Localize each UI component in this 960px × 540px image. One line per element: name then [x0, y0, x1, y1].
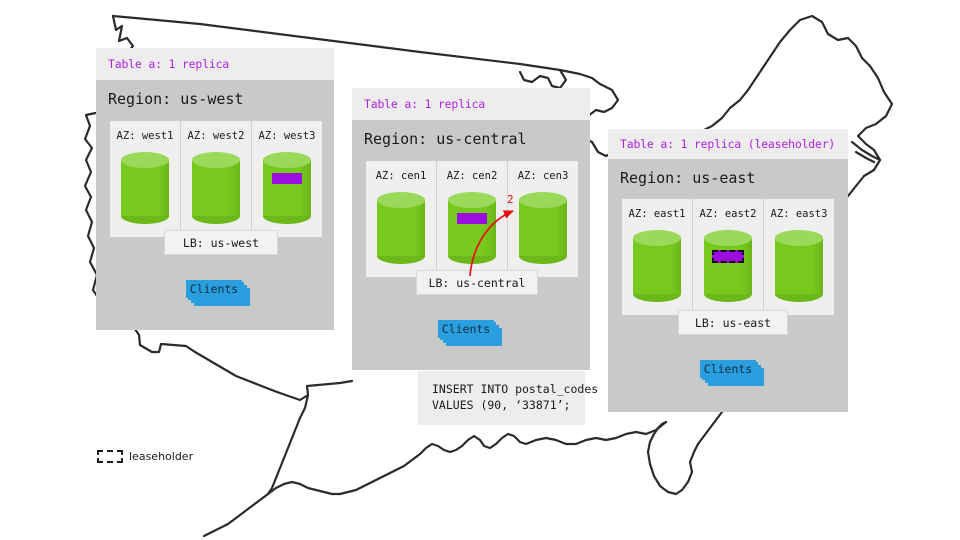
az-cell-west1[interactable]: AZ: west1 — [110, 121, 180, 237]
az-label: AZ: west1 — [117, 130, 174, 142]
legend-leaseholder: leaseholder — [97, 450, 193, 463]
arrow-step-label: 2 — [507, 193, 514, 206]
az-cell-east1[interactable]: AZ: east1 — [622, 199, 692, 315]
panel-header-us-central: Table a: 1 replica — [352, 88, 590, 120]
sql-line-2: VALUES (90, ‘33871’; — [432, 397, 585, 413]
az-cell-cen2[interactable]: AZ: cen2 — [436, 161, 507, 277]
clients-label: Clients — [190, 282, 238, 296]
az-cell-cen3[interactable]: AZ: cen3 — [507, 161, 578, 277]
database-cylinder-west2[interactable] — [192, 152, 240, 224]
sql-line-1: INSERT INTO postal_codes — [432, 381, 585, 397]
leaseholder-replica-marker-east2 — [712, 250, 744, 263]
clients-stack-us-west[interactable]: Clients — [186, 280, 252, 306]
sql-statement-box: INSERT INTO postal_codes VALUES (90, ‘33… — [418, 371, 585, 425]
database-cylinder-east1[interactable] — [633, 230, 681, 302]
region-title: Region: us-central — [352, 120, 590, 156]
panel-header-us-west: Table a: 1 replica — [96, 48, 334, 80]
lb-label: LB: us-central — [429, 276, 526, 290]
az-label: AZ: east2 — [700, 208, 757, 220]
load-balancer-us-central[interactable]: LB: us-central — [416, 270, 538, 295]
replica-marker-west3 — [272, 173, 302, 184]
lb-label: LB: us-west — [183, 236, 259, 250]
az-strip-us-central: AZ: cen1 AZ: cen2 AZ: — [366, 161, 578, 277]
load-balancer-us-west[interactable]: LB: us-west — [164, 230, 278, 255]
az-cell-east2[interactable]: AZ: east2 — [692, 199, 763, 315]
region-panel-us-west: Table a: 1 replica Region: us-west AZ: w… — [96, 48, 334, 330]
legend-label: leaseholder — [129, 450, 193, 463]
az-label: AZ: west3 — [259, 130, 316, 142]
az-label: AZ: east1 — [629, 208, 686, 220]
az-cell-west2[interactable]: AZ: west2 — [180, 121, 251, 237]
az-cell-cen1[interactable]: AZ: cen1 — [366, 161, 436, 277]
az-label: AZ: cen1 — [376, 170, 427, 182]
az-label: AZ: cen2 — [447, 170, 498, 182]
panel-header-us-east: Table a: 1 replica (leaseholder) — [608, 129, 848, 159]
load-balancer-us-east[interactable]: LB: us-east — [678, 310, 788, 335]
database-cylinder-cen2[interactable] — [448, 192, 496, 264]
database-cylinder-east3[interactable] — [775, 230, 823, 302]
clients-label: Clients — [442, 322, 490, 336]
az-cell-east3[interactable]: AZ: east3 — [763, 199, 834, 315]
database-cylinder-cen3[interactable] — [519, 192, 567, 264]
region-title: Region: us-east — [608, 159, 848, 195]
clients-stack-us-central[interactable]: Clients — [438, 320, 504, 346]
az-label: AZ: west2 — [188, 130, 245, 142]
az-strip-us-east: AZ: east1 AZ: east2 A — [622, 199, 834, 315]
table-replica-note: Table a: 1 replica — [108, 57, 229, 71]
table-replica-note: Table a: 1 replica (leaseholder) — [620, 137, 835, 151]
replica-marker-cen2 — [457, 213, 487, 224]
database-cylinder-cen1[interactable] — [377, 192, 425, 264]
lb-label: LB: us-east — [695, 316, 771, 330]
dashed-rect-swatch — [97, 450, 123, 463]
az-strip-us-west: AZ: west1 AZ: west2 AZ: west3 — [110, 121, 322, 237]
region-panel-us-central: Table a: 1 replica Region: us-central AZ… — [352, 88, 590, 370]
az-label: AZ: east3 — [771, 208, 828, 220]
region-panel-us-east: Table a: 1 replica (leaseholder) Region:… — [608, 129, 848, 412]
az-cell-west3[interactable]: AZ: west3 — [251, 121, 322, 237]
diagram-canvas: 2 Table a: 1 replica Region: us-west AZ:… — [0, 0, 960, 540]
az-label: AZ: cen3 — [518, 170, 569, 182]
region-title: Region: us-west — [96, 80, 334, 116]
table-replica-note: Table a: 1 replica — [364, 97, 485, 111]
clients-label: Clients — [704, 362, 752, 376]
database-cylinder-west3[interactable] — [263, 152, 311, 224]
clients-stack-us-east[interactable]: Clients — [700, 360, 766, 386]
database-cylinder-east2[interactable] — [704, 230, 752, 302]
database-cylinder-west1[interactable] — [121, 152, 169, 224]
